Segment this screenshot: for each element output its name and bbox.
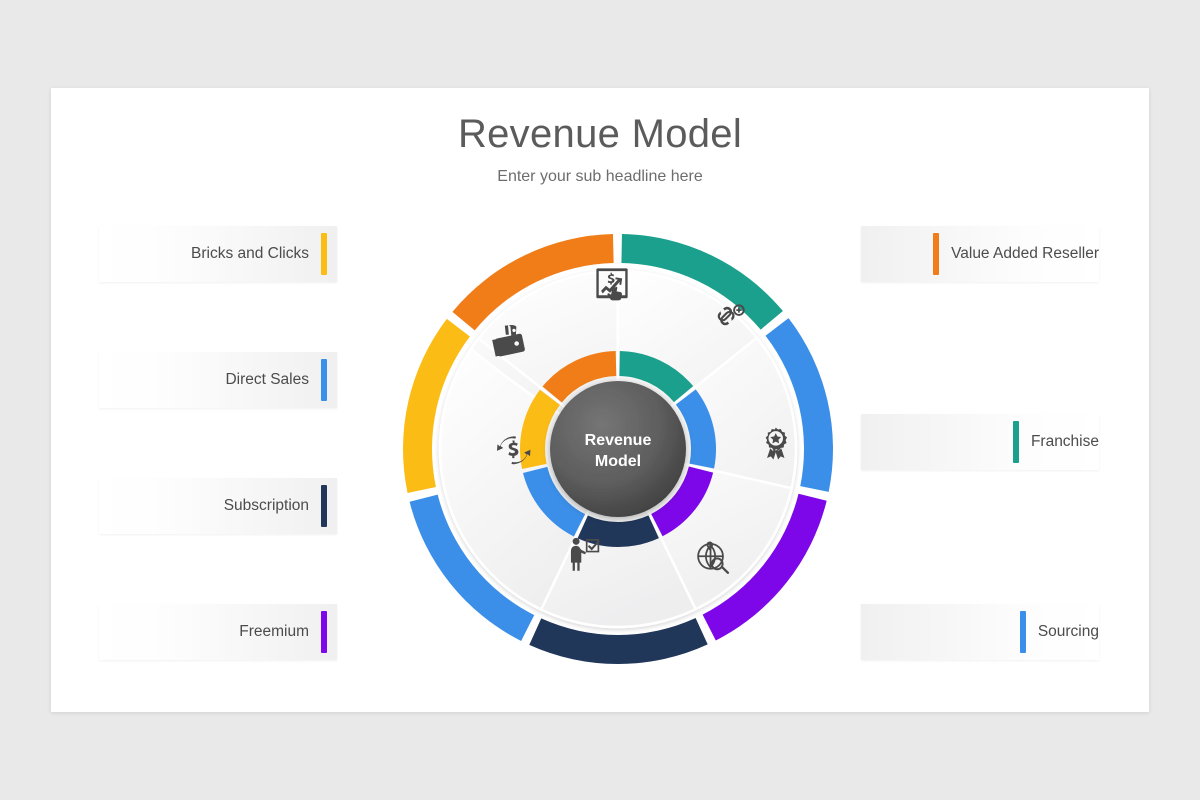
wheel-center-hub: Revenue Model <box>550 381 686 517</box>
chip-color-bar <box>321 485 327 527</box>
page-subtitle: Enter your sub headline here <box>51 168 1149 186</box>
label-chip-subscription[interactable]: Subscription <box>99 478 337 534</box>
chip-color-bar <box>321 359 327 401</box>
chip-label-text: Franchise <box>1031 433 1099 451</box>
chip-color-bar <box>321 611 327 653</box>
page-title: Revenue Model <box>51 112 1149 157</box>
hub-title-line2: Model <box>595 453 641 470</box>
label-chip-sourcing[interactable]: Sourcing <box>861 604 1099 660</box>
label-chip-direct-sales[interactable]: Direct Sales <box>99 352 337 408</box>
chip-color-bar <box>321 233 327 275</box>
label-chip-freemium[interactable]: Freemium <box>99 604 337 660</box>
chip-label-text: Subscription <box>224 497 309 515</box>
label-chip-bricks-and-clicks[interactable]: Bricks and Clicks <box>99 226 337 282</box>
label-chip-value-added-reseller[interactable]: Value Added Reseller <box>861 226 1099 282</box>
chip-label-text: Value Added Reseller <box>951 245 1099 263</box>
hub-title-line1: Revenue <box>585 432 652 449</box>
chip-color-bar <box>1013 421 1019 463</box>
chip-color-bar <box>933 233 939 275</box>
chip-label-text: Freemium <box>239 623 309 641</box>
chip-color-bar <box>1020 611 1026 653</box>
chip-label-text: Sourcing <box>1038 623 1099 641</box>
label-chip-franchise[interactable]: Franchise <box>861 414 1099 470</box>
chip-label-text: Bricks and Clicks <box>191 245 309 263</box>
slide-card: Revenue Model Enter your sub headline he… <box>51 88 1149 712</box>
revenue-model-wheel-chart[interactable]: Revenue Model <box>383 214 853 684</box>
chip-label-text: Direct Sales <box>225 371 309 389</box>
